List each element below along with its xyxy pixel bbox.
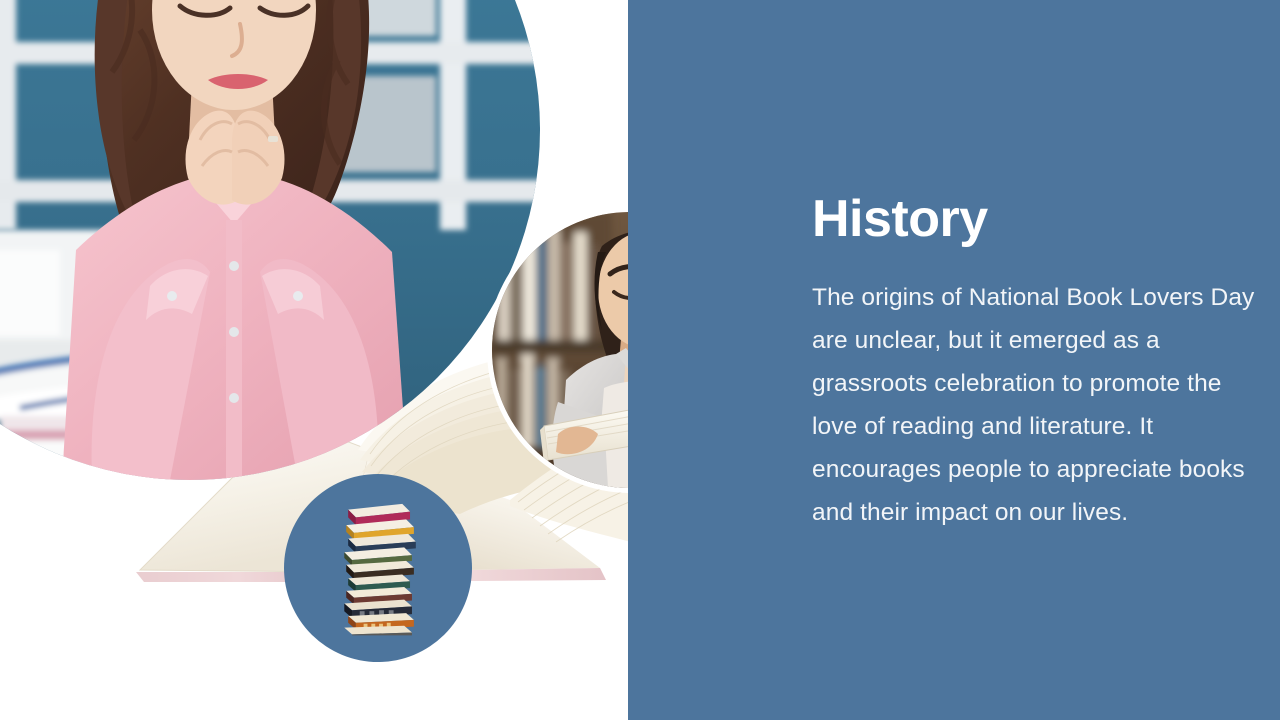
hero-photo-woman-at-desk [0,0,540,480]
content-panel: History The origins of National Book Lov… [628,0,1280,720]
page-title: History [812,192,988,247]
slide-canvas: History The origins of National Book Lov… [0,0,1280,720]
inset-photo-woman-reading [487,207,628,493]
body-paragraph: The origins of National Book Lovers Day … [812,276,1258,534]
books-stack-circle [284,474,472,662]
left-artwork-area [0,0,628,720]
stack-of-books-icon [333,500,423,635]
